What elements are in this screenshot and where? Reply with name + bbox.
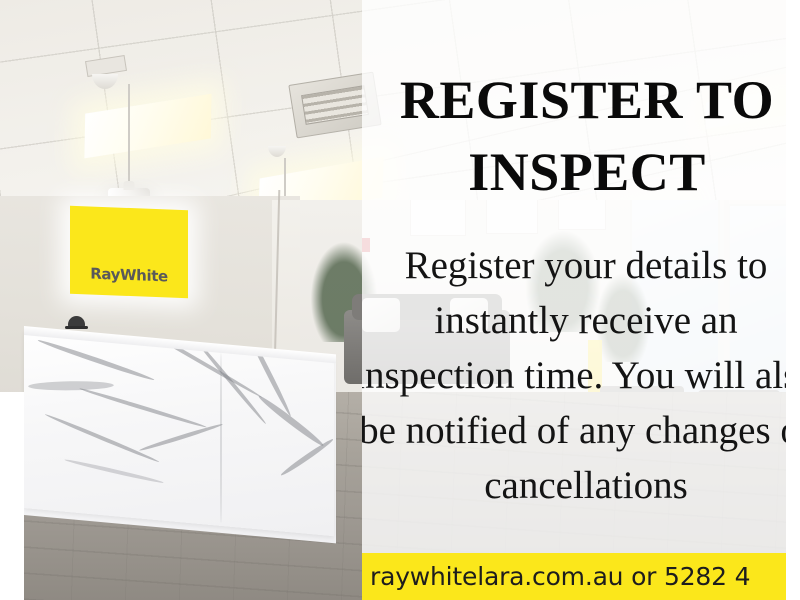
logo-word-ray: Ray [90, 265, 120, 284]
marble-vein [257, 393, 326, 448]
marble-vein [64, 458, 164, 485]
contact-banner-text: raywhitelara.com.au or 5282 4 [362, 562, 750, 591]
marble-reception-counter [24, 330, 334, 536]
marble-vein [44, 413, 159, 464]
marble-vein [28, 381, 114, 391]
reception-bell-icon [68, 316, 85, 327]
page-title: REGISTER TO INSPECT [362, 64, 786, 208]
body-copy: Register your details to instantly recei… [362, 238, 786, 513]
contact-banner[interactable]: raywhitelara.com.au or 5282 4 [362, 553, 786, 600]
counter-panel-seam [220, 353, 222, 523]
ray-white-wall-sign: RayWhite [70, 206, 188, 299]
text-block: REGISTER TO INSPECT Register your detail… [362, 0, 786, 600]
pendant-cord [128, 84, 130, 190]
ray-white-logo-text: RayWhite [70, 264, 188, 287]
marble-vein [279, 437, 334, 477]
marble-vein [139, 422, 224, 452]
marble-vein [79, 387, 207, 429]
pendant-cap [124, 181, 135, 190]
left-white-margin [0, 392, 24, 600]
logo-word-white: White [120, 266, 168, 286]
flyer-canvas: RayWhite [0, 0, 800, 600]
right-white-margin [786, 0, 800, 600]
